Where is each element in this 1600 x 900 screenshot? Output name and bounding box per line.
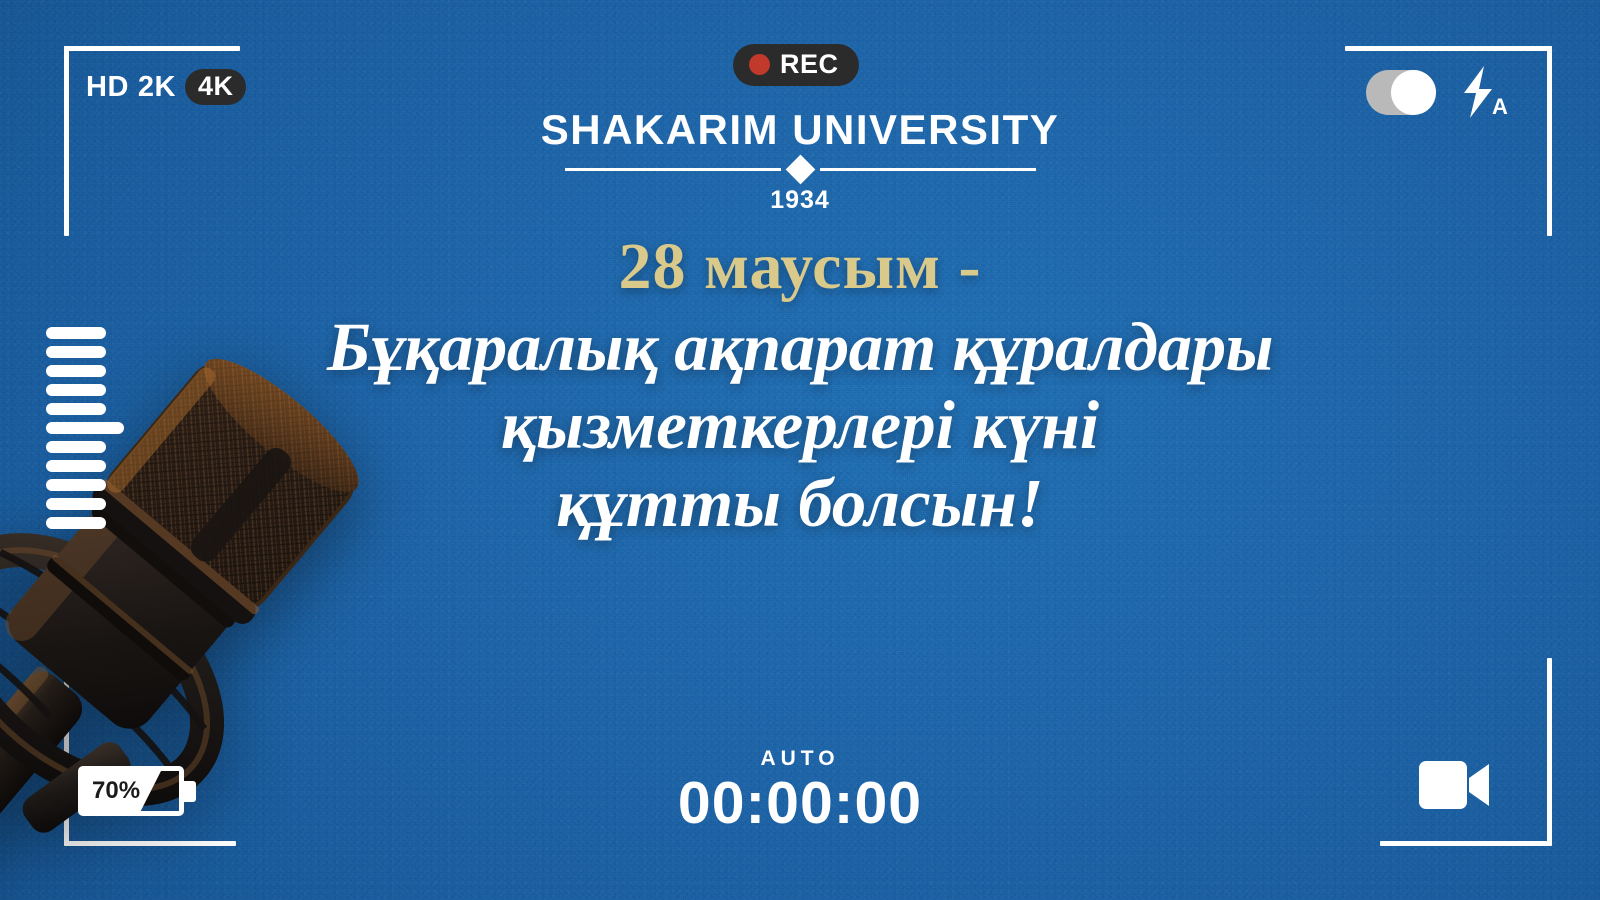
video-camera-icon[interactable] (1419, 757, 1491, 813)
university-name: SHAKARIM UNIVERSITY (541, 108, 1060, 152)
level-bar[interactable] (46, 365, 106, 377)
bracket-line-horizontal (1345, 46, 1552, 51)
resolution-option-4k-active[interactable]: 4K (185, 69, 247, 105)
resolution-selector[interactable]: HD 2K 4K (86, 69, 246, 105)
university-logo: SHAKARIM UNIVERSITY 1934 (0, 108, 1600, 215)
resolution-option-hd[interactable]: HD (86, 71, 129, 104)
resolution-option-2k[interactable]: 2K (138, 71, 176, 104)
rec-label: REC (780, 51, 839, 78)
logo-divider-line-left (565, 168, 781, 171)
timer-mode-label: AUTO (760, 748, 839, 769)
timer-value: 00:00:00 (678, 773, 922, 835)
record-dot-icon (749, 54, 770, 75)
poster-canvas: HD 2K 4K REC A SHAKARIM UNIVERSITY 1934 … (0, 0, 1600, 900)
logo-divider (565, 159, 1036, 180)
level-bar[interactable] (46, 403, 106, 415)
battery-cap (184, 781, 196, 802)
bracket-line-horizontal (1380, 841, 1552, 846)
battery-icon: 70% (78, 766, 198, 816)
level-bar[interactable] (46, 460, 106, 472)
level-bar[interactable] (46, 498, 106, 510)
level-bar[interactable] (46, 346, 106, 358)
level-bar[interactable] (46, 517, 106, 529)
rec-badge[interactable]: REC (733, 44, 859, 86)
bracket-line-horizontal (64, 46, 240, 51)
university-founding-year: 1934 (770, 186, 830, 215)
level-bar-active[interactable] (46, 422, 124, 434)
headline-date: 28 маусым - (0, 232, 1600, 301)
battery-percent-label: 70% (83, 779, 140, 803)
diamond-icon (785, 155, 815, 185)
level-bar[interactable] (46, 327, 106, 339)
level-bars-icon[interactable] (46, 327, 124, 529)
level-bar[interactable] (46, 384, 106, 396)
level-bar[interactable] (46, 441, 106, 453)
logo-divider-line-right (820, 168, 1036, 171)
level-bar[interactable] (46, 479, 106, 491)
